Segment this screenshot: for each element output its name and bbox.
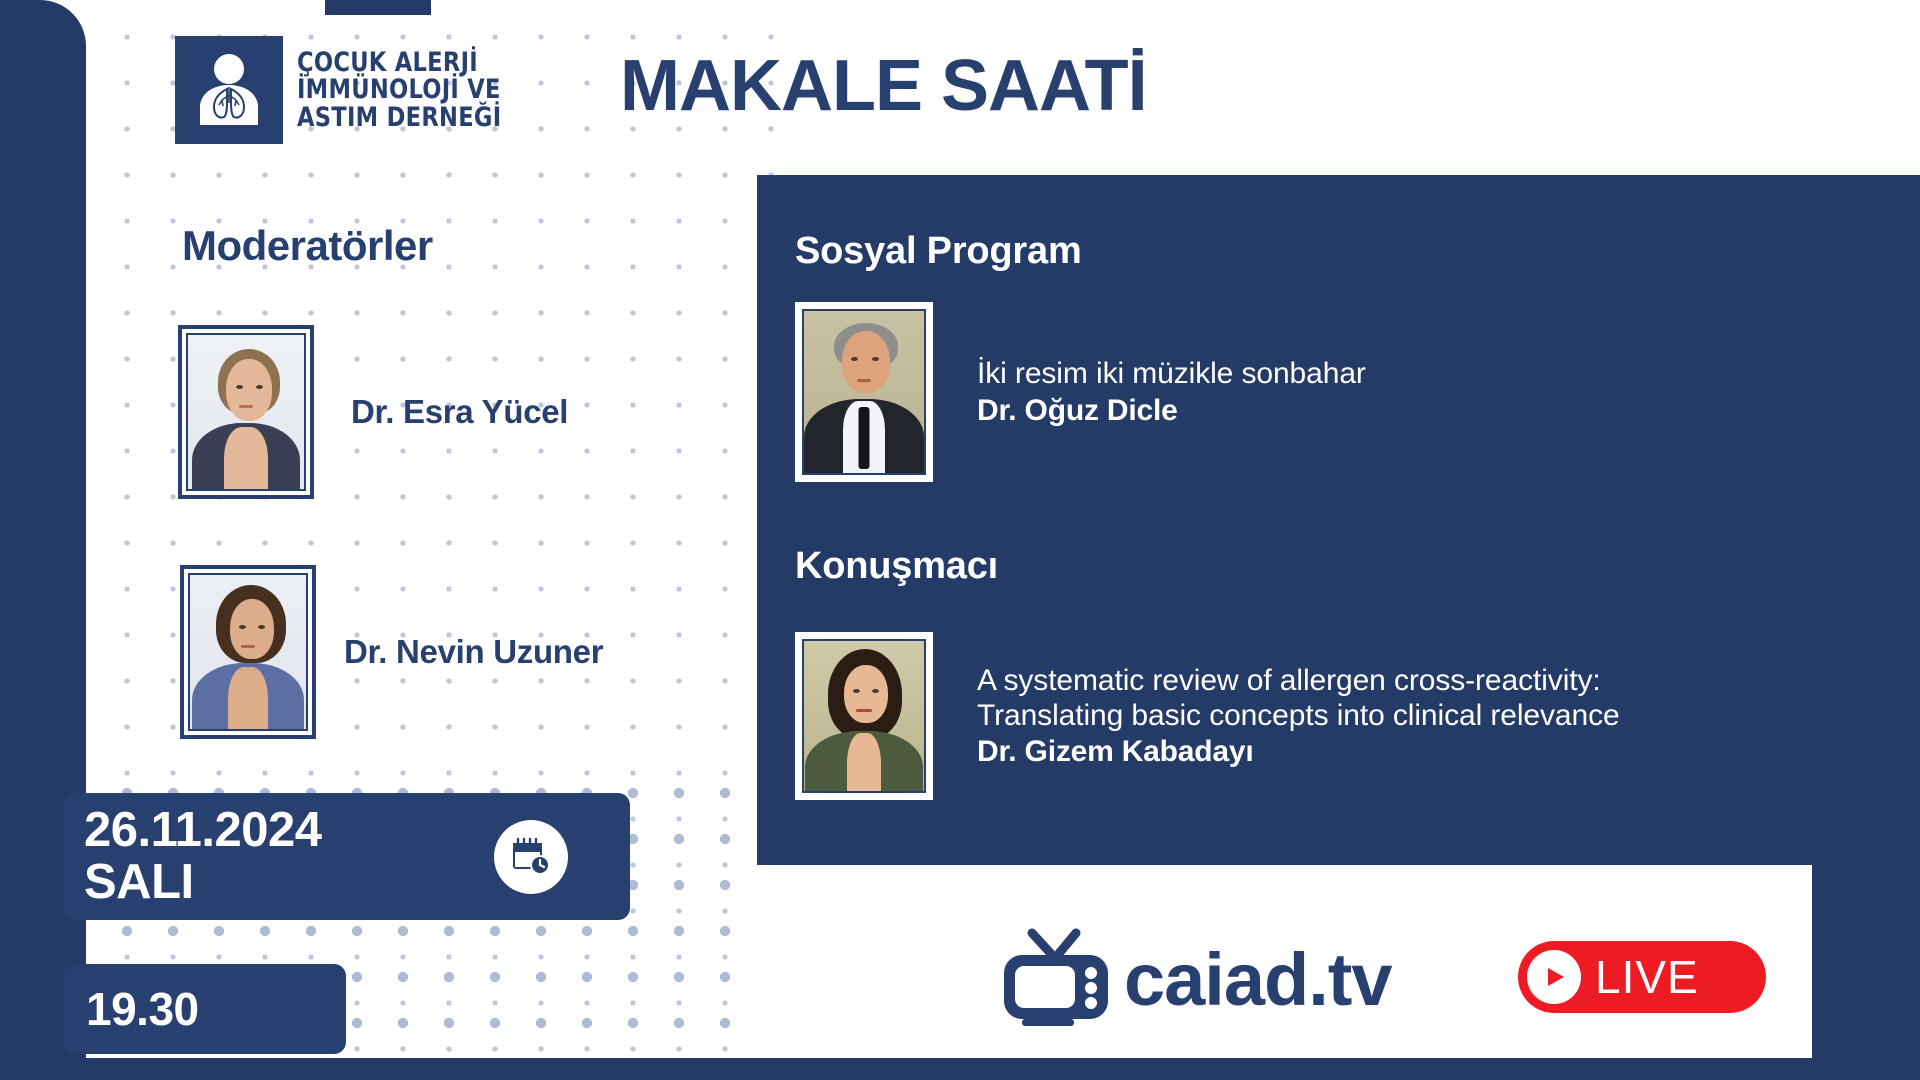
portrait-oguz-dicle	[802, 309, 926, 475]
association-logo: ÇOCUK ALERJİ İMMÜNOLOJİ VE ASTIM DERNEĞİ	[175, 36, 517, 144]
program-entry-text: İki resim iki müzikle sonbahar Dr. Oğuz …	[977, 356, 1366, 427]
moderator-photo-frame	[178, 325, 314, 499]
date-text: 26.11.2024 SALI	[84, 805, 322, 908]
program-presenter: Dr. Gizem Kabadayı	[977, 735, 1620, 769]
moderator-item: Dr. Esra Yücel	[178, 325, 568, 499]
top-navy-tab	[325, 0, 431, 15]
time-badge: 19.30	[64, 964, 346, 1054]
logo-line-2: İMMÜNOLOJİ VE	[297, 76, 501, 104]
calendar-clock-icon	[494, 820, 568, 894]
program-entry-text: A systematic review of allergen cross-re…	[977, 663, 1620, 770]
logo-line-3: ASTIM DERNEĞİ	[297, 104, 501, 132]
portrait-nevin-uzuner	[188, 573, 308, 731]
presenter-photo-frame	[795, 302, 933, 482]
caiad-tv-brand[interactable]: caiad.tv	[996, 925, 1392, 1034]
moderator-name: Dr. Nevin Uzuner	[344, 633, 603, 671]
program-entry: A systematic review of allergen cross-re…	[795, 632, 1620, 800]
portrait-gizem-kabadayi	[802, 639, 926, 793]
page-title: MAKALE SAATİ	[620, 45, 1147, 127]
moderator-item: Dr. Nevin Uzuner	[180, 565, 603, 739]
program-topic-line-1: A systematic review of allergen cross-re…	[977, 663, 1620, 698]
presenter-photo-frame	[795, 632, 933, 800]
logo-text: ÇOCUK ALERJİ İMMÜNOLOJİ VE ASTIM DERNEĞİ	[297, 49, 501, 132]
date-badge: 26.11.2024 SALI	[64, 793, 630, 920]
moderator-name: Dr. Esra Yücel	[351, 393, 568, 431]
site-name: caiad.tv	[1124, 943, 1392, 1017]
moderator-photo-frame	[180, 565, 316, 739]
section-heading-konusmaci: Konuşmacı	[795, 545, 998, 588]
logo-line-1: ÇOCUK ALERJİ	[297, 49, 501, 77]
bottom-navy-strip	[0, 1058, 1920, 1080]
program-topic: İki resim iki müzikle sonbahar	[977, 356, 1366, 391]
live-label: LIVE	[1595, 950, 1699, 1004]
portrait-esra-yucel	[186, 333, 306, 491]
right-navy-edge	[1812, 855, 1920, 1080]
program-topic-line-2: Translating basic concepts into clinical…	[977, 698, 1620, 733]
event-day: SALI	[84, 857, 322, 908]
child-lungs-icon	[175, 36, 283, 144]
event-time: 19.30	[86, 982, 199, 1036]
live-badge[interactable]: LIVE	[1518, 941, 1766, 1013]
moderators-heading: Moderatörler	[182, 222, 433, 270]
section-heading-sosyal-program: Sosyal Program	[795, 230, 1082, 273]
program-presenter: Dr. Oğuz Dicle	[977, 394, 1366, 428]
retro-tv-icon	[996, 925, 1116, 1034]
poster-canvas: ÇOCUK ALERJİ İMMÜNOLOJİ VE ASTIM DERNEĞİ…	[0, 0, 1920, 1080]
play-icon	[1527, 950, 1581, 1004]
event-date: 26.11.2024	[84, 805, 322, 856]
program-entry: İki resim iki müzikle sonbahar Dr. Oğuz …	[795, 302, 1366, 482]
